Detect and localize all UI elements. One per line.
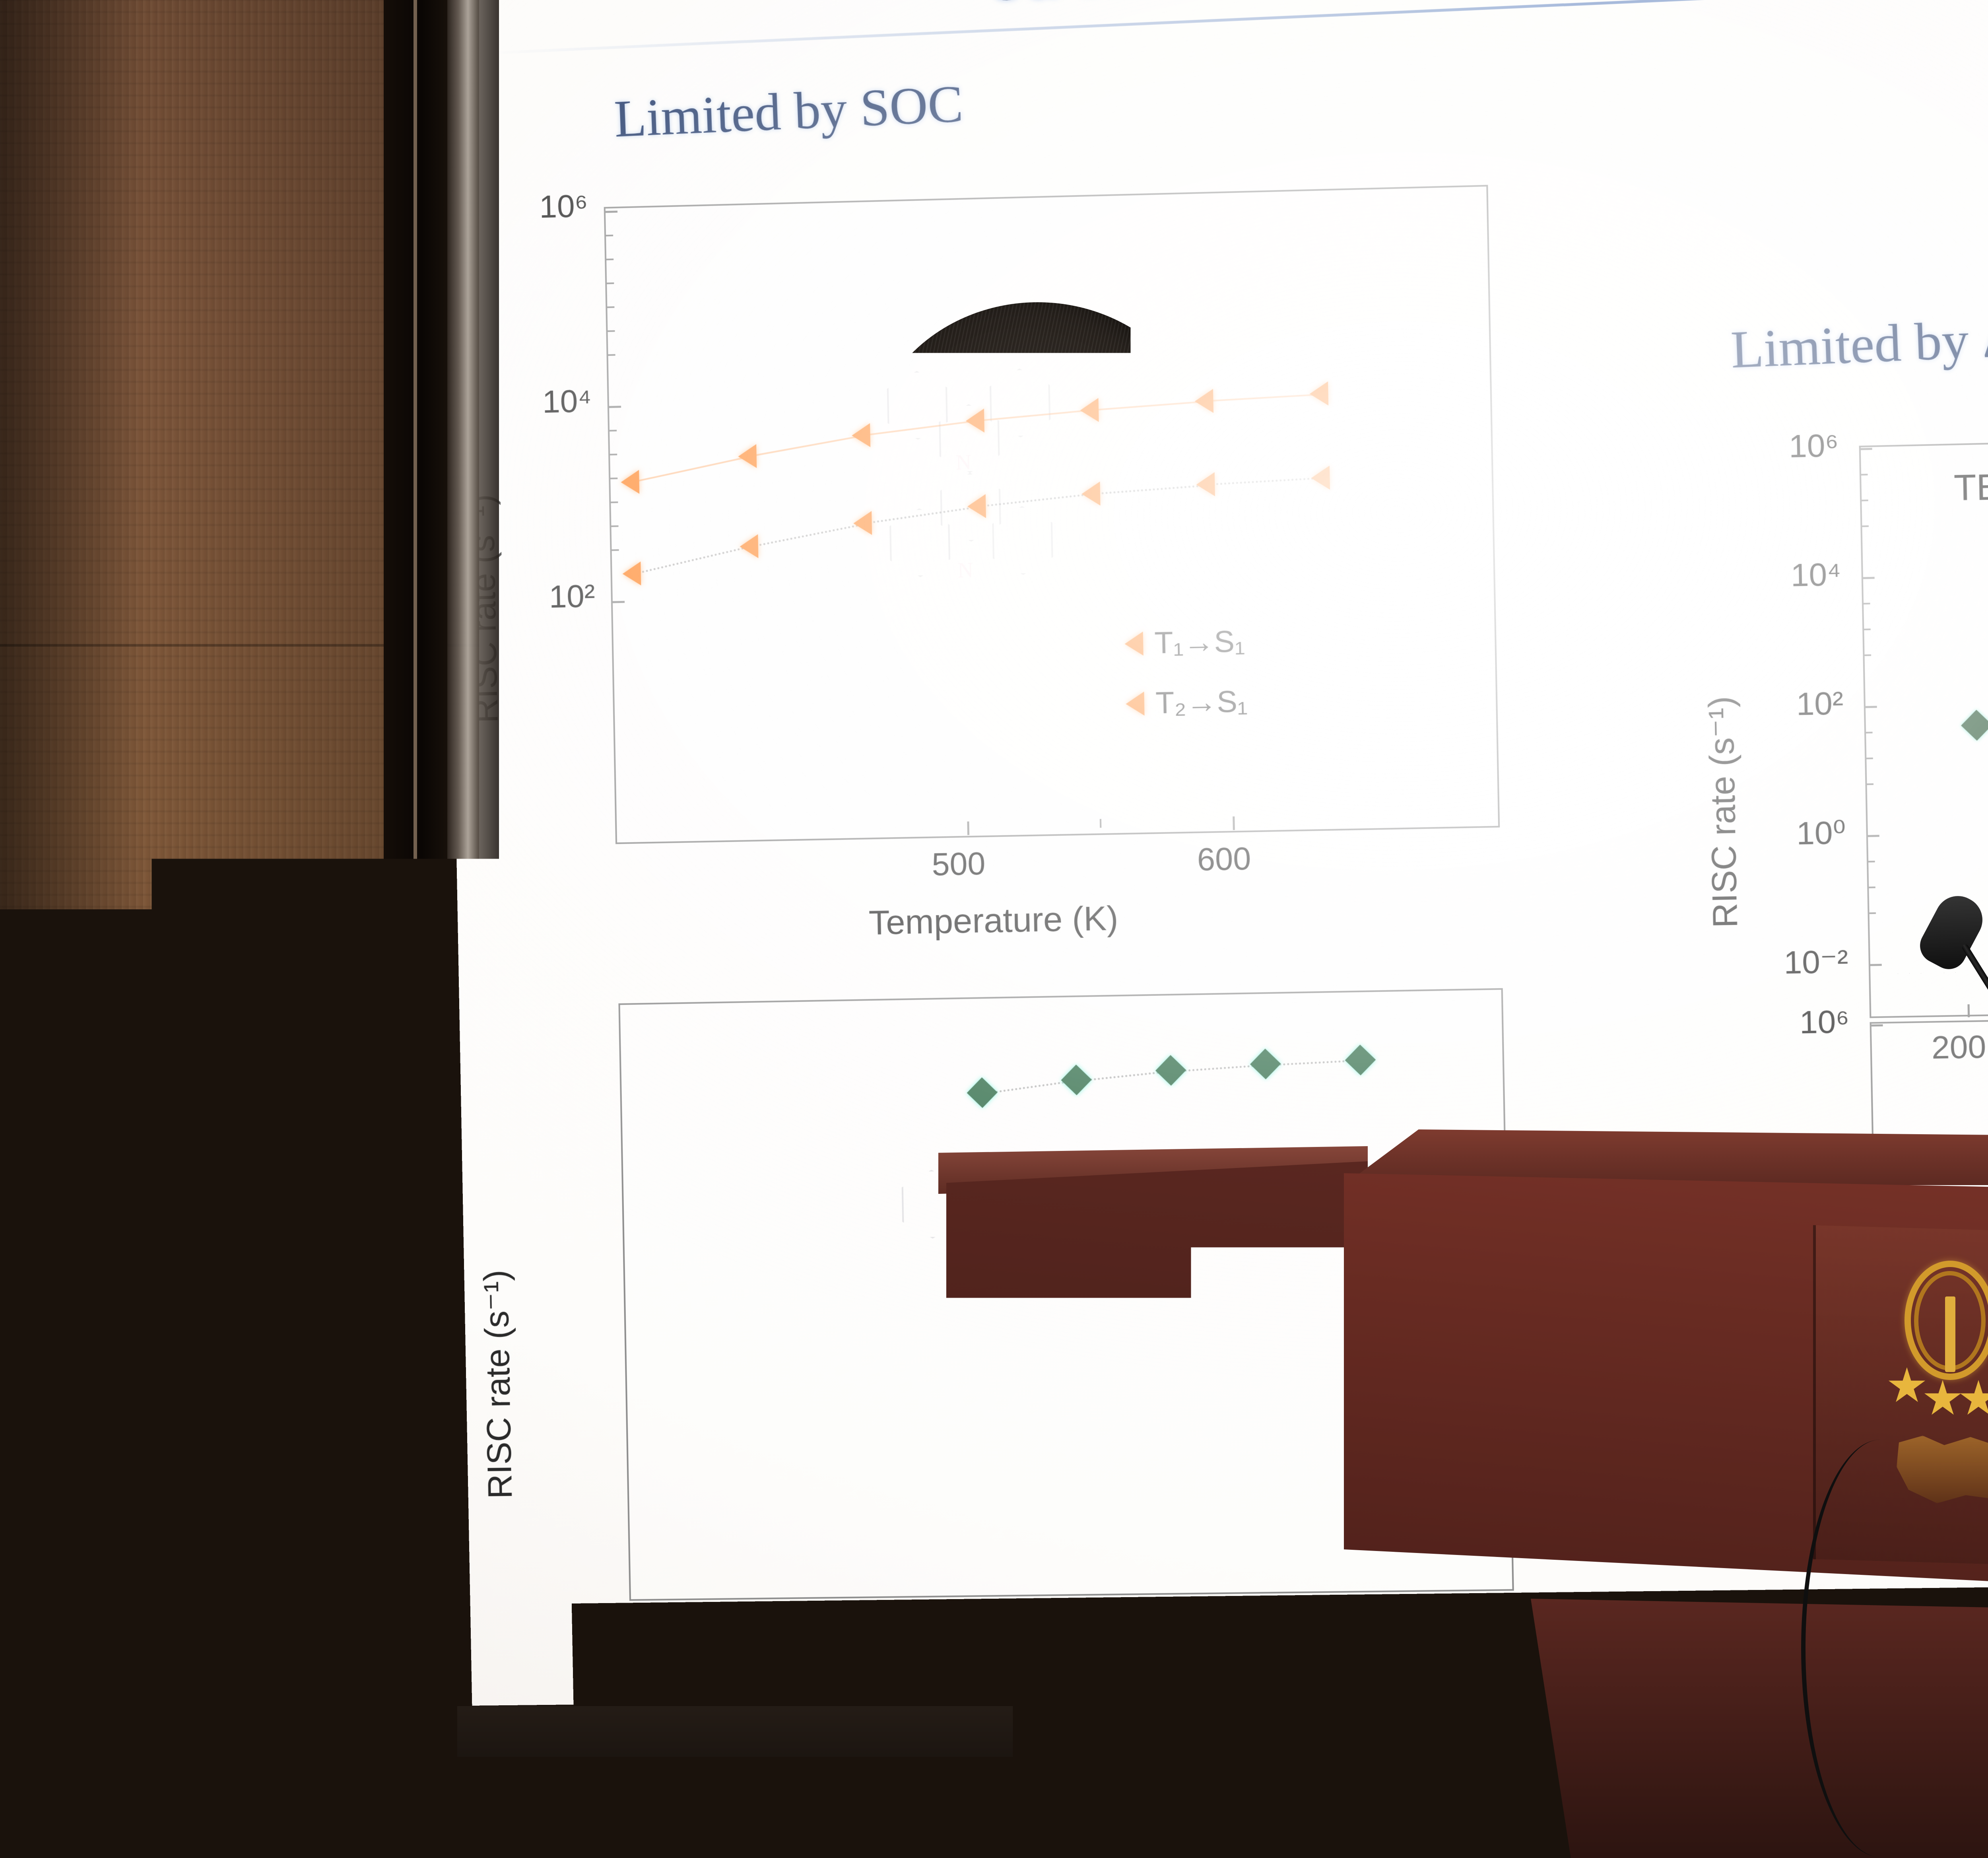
eyeglasses: [875, 509, 1205, 597]
microphone: [1924, 887, 1988, 1245]
presentation-photo: ed MR emitters Limited by SOC Limited by…: [0, 0, 1988, 1858]
chart-top-right-ytick-3: 10⁰: [1736, 814, 1846, 853]
shirt-button: [1019, 1177, 1039, 1198]
chart-bottom-right-ytick-0: 10⁶: [1739, 1003, 1850, 1042]
microphone-gooseneck: [1961, 943, 1988, 1210]
wall-mounted-plate: [314, 1090, 366, 1161]
chart-top-right-ytick-4: 10⁻²: [1734, 943, 1848, 982]
wall-cable: [414, 0, 417, 1114]
emblem-star-icon: [1959, 1380, 1988, 1418]
chart-top-left-ytick-1: 10⁴: [488, 383, 592, 422]
eyeglass-lens-right: [1034, 513, 1157, 591]
eyeglass-bridge: [1007, 536, 1039, 542]
heading-limited-by-deltae: Limited by ΔEST: [1730, 304, 1988, 381]
chart-top-right-ytick-0: 10⁶: [1728, 427, 1839, 466]
slide-title: ed MR emitters: [986, 0, 1467, 18]
emblem-bar: [1945, 1296, 1955, 1372]
metal-edge-trim: [447, 0, 499, 1858]
trousers: [907, 1718, 1376, 1858]
chart-top-right-ytick-2: 10²: [1733, 685, 1844, 724]
chart-top-right-ylabel: RISC rate (s⁻¹): [1701, 696, 1745, 928]
slide-title-rule: [490, 0, 1988, 54]
shirt-button: [1019, 1050, 1039, 1071]
eyeglass-lens-left: [887, 513, 1010, 591]
heading-deltae-text: Limited by ΔE: [1730, 307, 1988, 379]
shirt-button: [1019, 923, 1039, 943]
audio-cable: [1801, 1440, 1960, 1857]
chart-top-left-ytick-0: 10⁶: [484, 187, 588, 227]
data-marker: [622, 562, 641, 586]
chart-top-right-ytick-1: 10⁴: [1731, 556, 1842, 595]
speaker: 马骁楠 天津大学: [676, 302, 1630, 1858]
heading-limited-by-soc: Limited by SOC: [613, 73, 964, 149]
emblem-star-icon: [1888, 1367, 1926, 1405]
chart-top-right-tag: TB: [1953, 467, 1988, 509]
emblem-star-icon: [1924, 1380, 1962, 1418]
chart-top-left-ytick-2: 10²: [491, 577, 595, 616]
nose: [994, 581, 1040, 646]
data-marker: [621, 470, 639, 494]
